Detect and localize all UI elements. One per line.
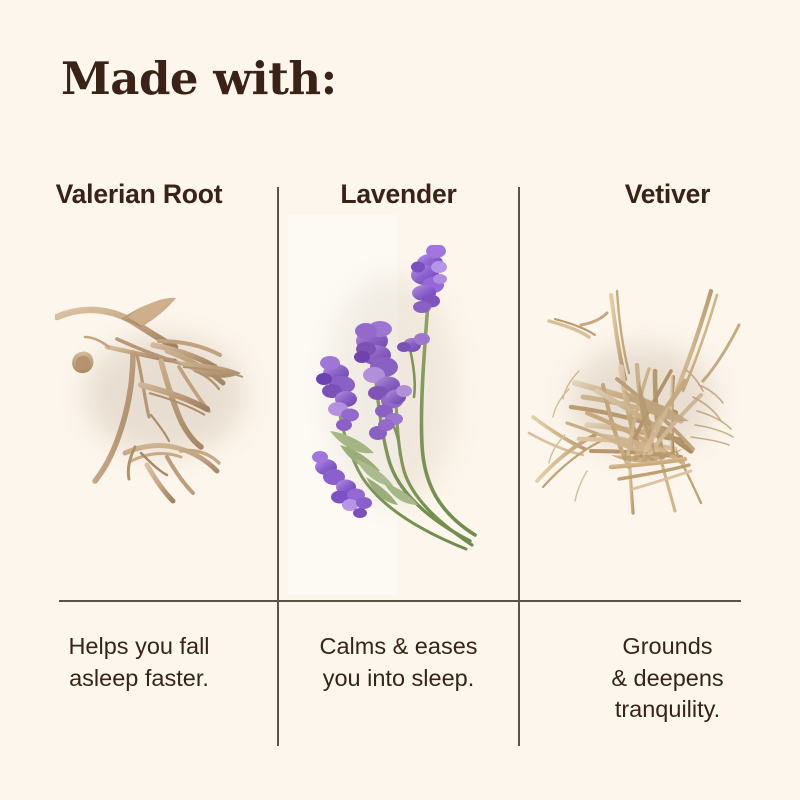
column-caption-vetiver: Grounds & deepens tranquility. [519, 631, 800, 726]
column-valerian-root: Valerian Root Helps you fall asleep fast… [0, 0, 278, 800]
column-lavender: Lavender Calms & eases you into sleep. [278, 0, 519, 800]
column-header-valerian-root: Valerian Root [0, 180, 294, 209]
column-header-lavender: Lavender [278, 180, 521, 209]
column-caption-lavender: Calms & eases you into sleep. [278, 631, 521, 694]
column-caption-valerian-root: Helps you fall asleep faster. [0, 631, 294, 694]
column-header-vetiver: Vetiver [519, 180, 800, 209]
column-vetiver: Vetiver Grounds & deepens tranquility. [519, 0, 800, 800]
made-with-poster: Made with: [0, 0, 800, 800]
ingredient-columns: Valerian Root Helps you fall asleep fast… [0, 0, 800, 800]
